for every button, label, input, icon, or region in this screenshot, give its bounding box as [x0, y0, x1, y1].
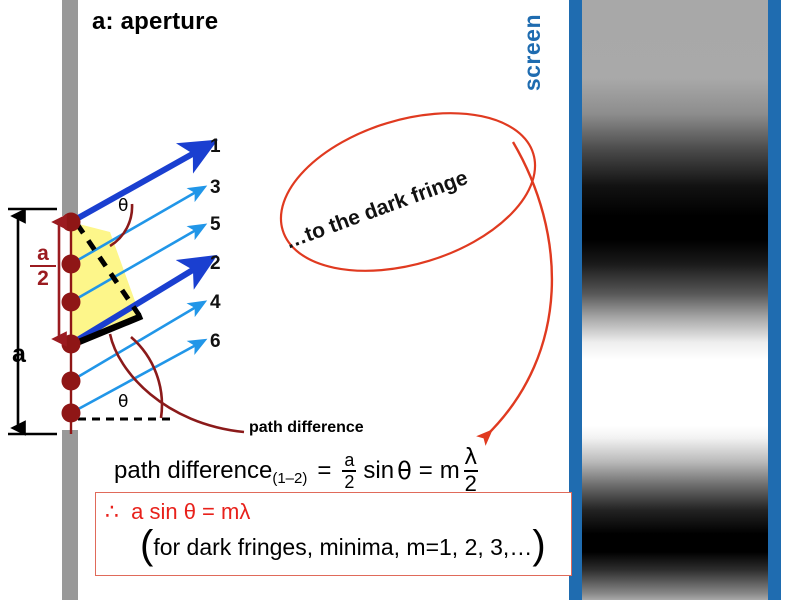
source-dot [62, 293, 81, 312]
source-dot [62, 404, 81, 423]
ray-label-3: 3 [210, 177, 221, 199]
fraction-denominator: 2 [344, 473, 354, 491]
ray-label-5: 5 [210, 214, 221, 236]
result-expression: ∴ a sin θ = mλ [105, 499, 250, 525]
equation-lhs: path difference [114, 457, 272, 485]
source-dot [62, 213, 81, 232]
path-difference-annotation: path difference [249, 419, 364, 437]
slide-canvas: screen [0, 0, 800, 600]
equation-lhs-subscript: (1–2) [272, 470, 307, 487]
result-condition-line: ( for dark fringes, minima, m=1, 2, 3,… … [140, 533, 546, 562]
therefore-symbol: ∴ [105, 500, 119, 525]
left-paren: ( [140, 531, 153, 560]
theta-label-upper: θ [118, 196, 128, 216]
dark-fringe-arrow [486, 142, 552, 436]
dimension-half-numerator: a [30, 243, 56, 264]
ray-1-line [71, 152, 196, 222]
page-title: a: aperture [92, 8, 218, 36]
ray-label-6: 6 [210, 331, 221, 353]
source-dot [62, 255, 81, 274]
dimension-a-label: a [12, 340, 26, 369]
ray-label-2: 2 [210, 253, 221, 275]
equation-theta: θ [394, 457, 412, 485]
fraction-lambda-over-2: λ 2 [464, 447, 478, 495]
dimension-half-denominator: 2 [30, 268, 56, 289]
result-equation-box: ∴ a sin θ = mλ ( for dark fringes, minim… [95, 492, 572, 576]
path-difference-leader [110, 334, 244, 432]
equation-equals-2: = [412, 457, 440, 485]
source-dot [62, 335, 81, 354]
equation-equals-1: = [307, 457, 339, 485]
equation-sin: sin [359, 457, 394, 485]
path-difference-equation: path difference(1–2) = a 2 sin θ = m λ 2 [114, 447, 481, 495]
fraction-numerator: λ [464, 447, 477, 469]
result-formula: a sin θ = mλ [125, 499, 250, 524]
theta-label-lower: θ [118, 392, 128, 412]
equation-m: m [440, 457, 460, 485]
result-condition: for dark fringes, minima, m=1, 2, 3,… [153, 534, 532, 561]
fraction-a-over-2: a 2 [342, 451, 356, 491]
fraction-numerator: a [344, 451, 354, 469]
ray-label-4: 4 [210, 292, 221, 314]
dimension-a-over-2-label: a 2 [30, 243, 56, 289]
source-dot [62, 372, 81, 391]
right-paren: ) [532, 531, 545, 560]
ray-label-1: 1 [210, 136, 221, 158]
